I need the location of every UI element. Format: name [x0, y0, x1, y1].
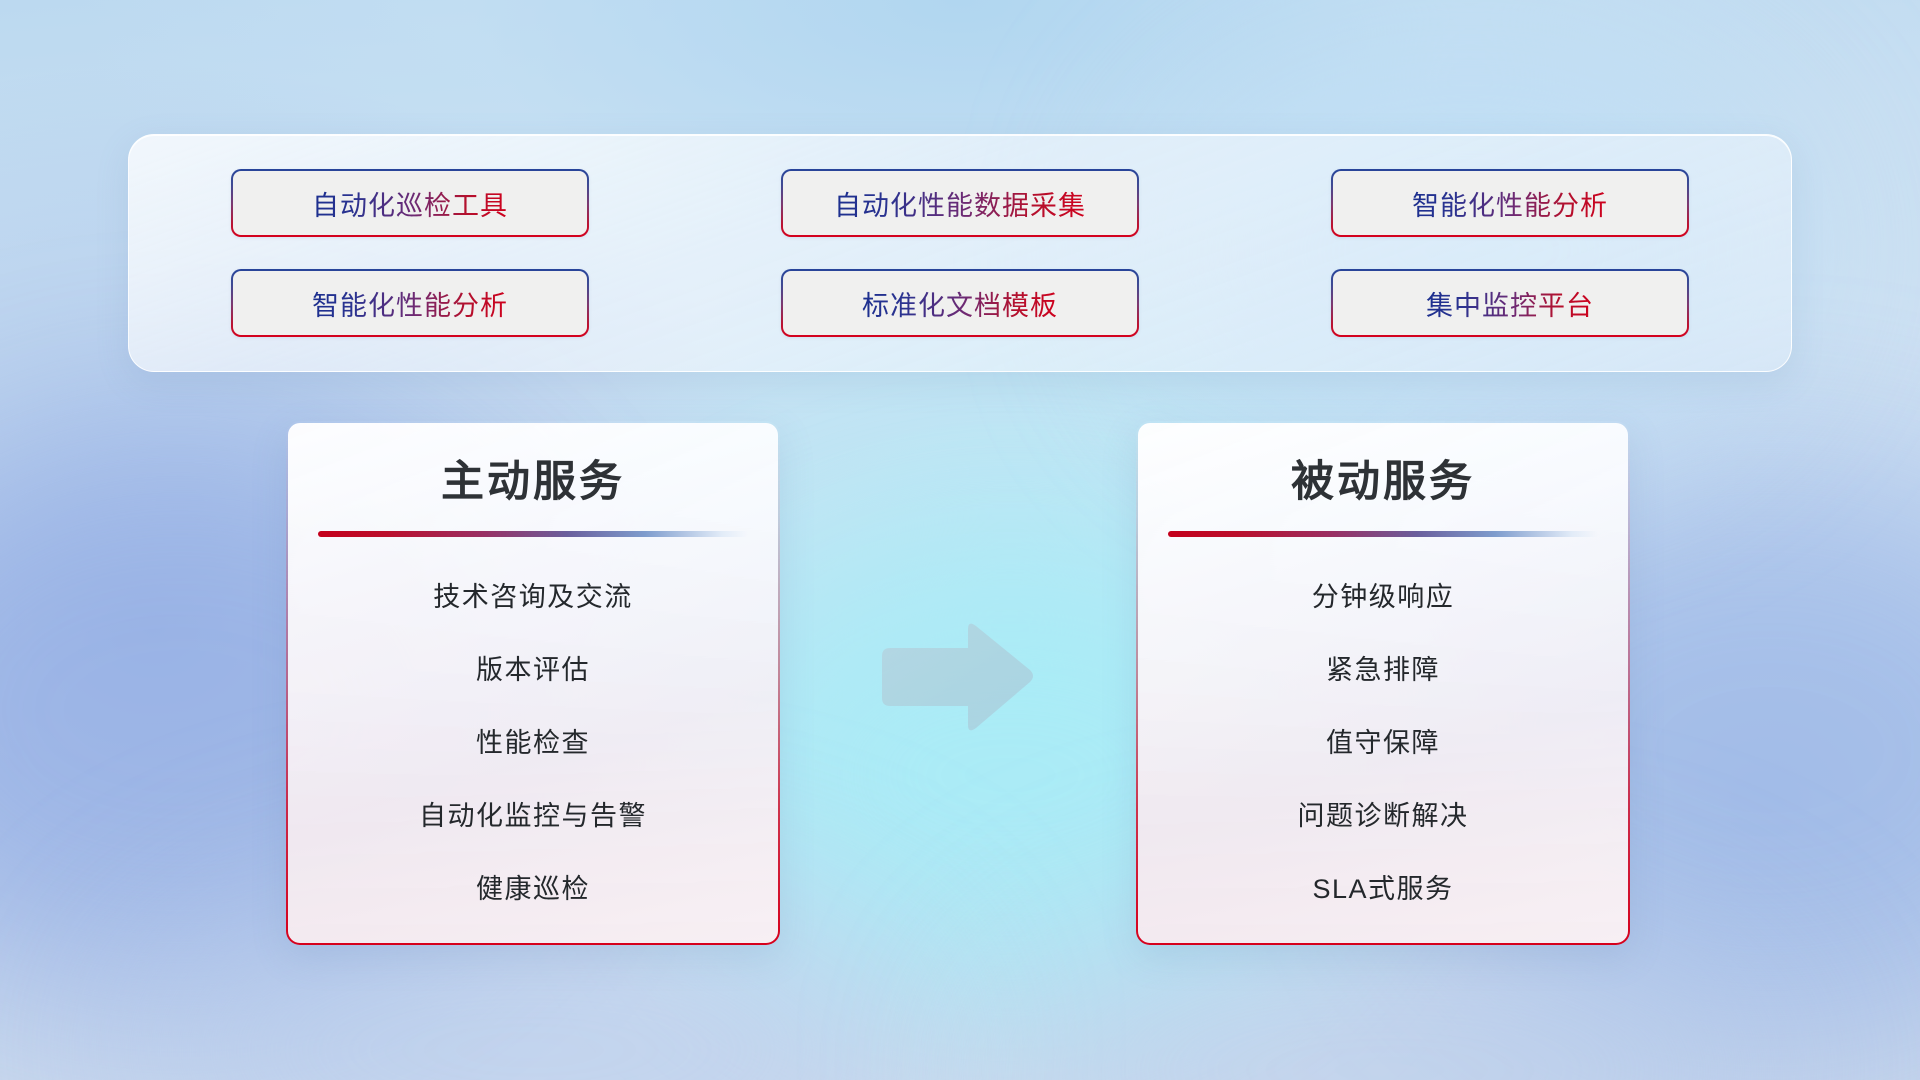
capability-chip-2[interactable]: 自动化性能数据采集	[781, 169, 1139, 237]
capability-chip-5[interactable]: 标准化文档模板	[781, 269, 1139, 337]
capability-chip-label: 智能化性能分析	[312, 284, 508, 323]
card-divider	[318, 531, 748, 537]
capability-chip-3[interactable]: 智能化性能分析	[1331, 169, 1689, 237]
service-card-proactive: 主动服务 技术咨询及交流 版本评估 性能检查 自动化监控与告警 健康巡检	[286, 421, 780, 945]
service-item: 自动化监控与告警	[419, 794, 647, 833]
service-item: 版本评估	[476, 648, 590, 687]
capability-chip-label: 智能化性能分析	[1412, 184, 1608, 223]
service-item: 分钟级响应	[1312, 575, 1455, 614]
service-item: 紧急排障	[1326, 648, 1440, 687]
card-title: 被动服务	[1291, 457, 1475, 509]
card-divider	[1168, 531, 1598, 537]
capability-chip-label: 自动化巡检工具	[312, 184, 508, 223]
service-item-list: 分钟级响应 紧急排障 值守保障 问题诊断解决 SLA式服务	[1164, 575, 1602, 906]
capability-chip-grid: 自动化巡检工具 自动化性能数据采集 智能化性能分析 智能化性能分析 标准化文档模…	[231, 169, 1689, 337]
capability-chip-6[interactable]: 集中监控平台	[1331, 269, 1689, 337]
capability-chip-label: 自动化性能数据采集	[834, 184, 1086, 223]
service-item: 技术咨询及交流	[433, 575, 633, 614]
capability-chip-4[interactable]: 智能化性能分析	[231, 269, 589, 337]
capability-chip-label: 集中监控平台	[1426, 284, 1594, 323]
capability-chips-panel: 自动化巡检工具 自动化性能数据采集 智能化性能分析 智能化性能分析 标准化文档模…	[128, 134, 1792, 372]
service-item-list: 技术咨询及交流 版本评估 性能检查 自动化监控与告警 健康巡检	[314, 575, 752, 906]
service-item: 健康巡检	[476, 867, 590, 906]
service-item: 值守保障	[1326, 721, 1440, 760]
service-item: 问题诊断解决	[1298, 794, 1469, 833]
service-card-reactive: 被动服务 分钟级响应 紧急排障 值守保障 问题诊断解决 SLA式服务	[1136, 421, 1630, 945]
capability-chip-label: 标准化文档模板	[862, 284, 1058, 323]
service-item: 性能检查	[476, 721, 590, 760]
service-item: SLA式服务	[1312, 867, 1453, 906]
capability-chip-1[interactable]: 自动化巡检工具	[231, 169, 589, 237]
slide-canvas: 自动化巡检工具 自动化性能数据采集 智能化性能分析 智能化性能分析 标准化文档模…	[0, 0, 1920, 1080]
arrow-right-icon	[876, 620, 1036, 736]
card-title: 主动服务	[441, 457, 625, 509]
